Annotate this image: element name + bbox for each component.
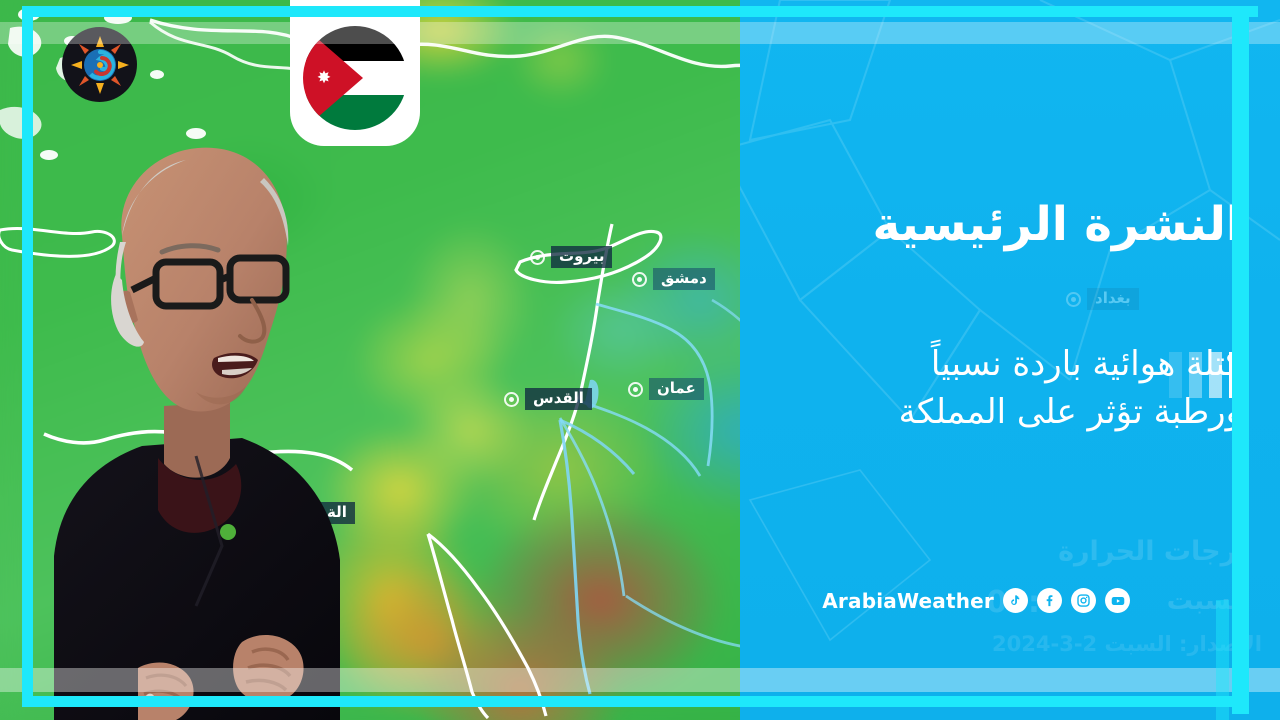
tiktok-icon[interactable] [1003,588,1028,613]
city-marker-icon [1066,292,1081,307]
brand-row: ArabiaWeather [822,588,1130,613]
facebook-icon[interactable] [1037,588,1062,613]
city-label-text: بغداد [1087,288,1139,310]
map-label-baghdad: بغداد [1066,288,1139,310]
map-label-damascus: دمشق [632,268,715,290]
coast-blob [150,70,164,79]
city-marker-icon [530,250,545,265]
coast-blob [104,12,132,24]
ghost-temperatures-label: درجات الحرارة [1058,536,1250,567]
city-label-text: دمشق [653,268,715,290]
presenter-figure [46,86,356,720]
map-label-beirut: بيروت [530,246,612,268]
map-label-amman: عمان [628,378,704,400]
ghost-day-label: السبت [1167,586,1250,616]
city-marker-icon [632,272,647,287]
city-label-text: عمان [649,378,704,400]
city-label-text: بيروت [551,246,612,268]
coast-blob [18,8,40,21]
brand-name: ArabiaWeather [822,589,994,613]
map-label-jerusalem: القدس [504,388,592,410]
bulletin-body-text: كتلة هوائية باردة نسبياً ورطبة تؤثر على … [842,340,1242,437]
city-marker-icon [504,392,519,407]
broadcast-stage: درجات الحرارة السبت :00 الإصدار: السبت 2… [0,0,1280,720]
flag-star-icon: ✸ [316,70,332,86]
instagram-icon[interactable] [1071,588,1096,613]
city-marker-icon [628,382,643,397]
city-label-text: القدس [525,388,592,410]
ghost-issue-date: الإصدار: السبت 2-3-2024 [992,632,1262,656]
youtube-icon[interactable] [1105,588,1130,613]
page-title: النشرة الرئيسية [802,196,1242,253]
